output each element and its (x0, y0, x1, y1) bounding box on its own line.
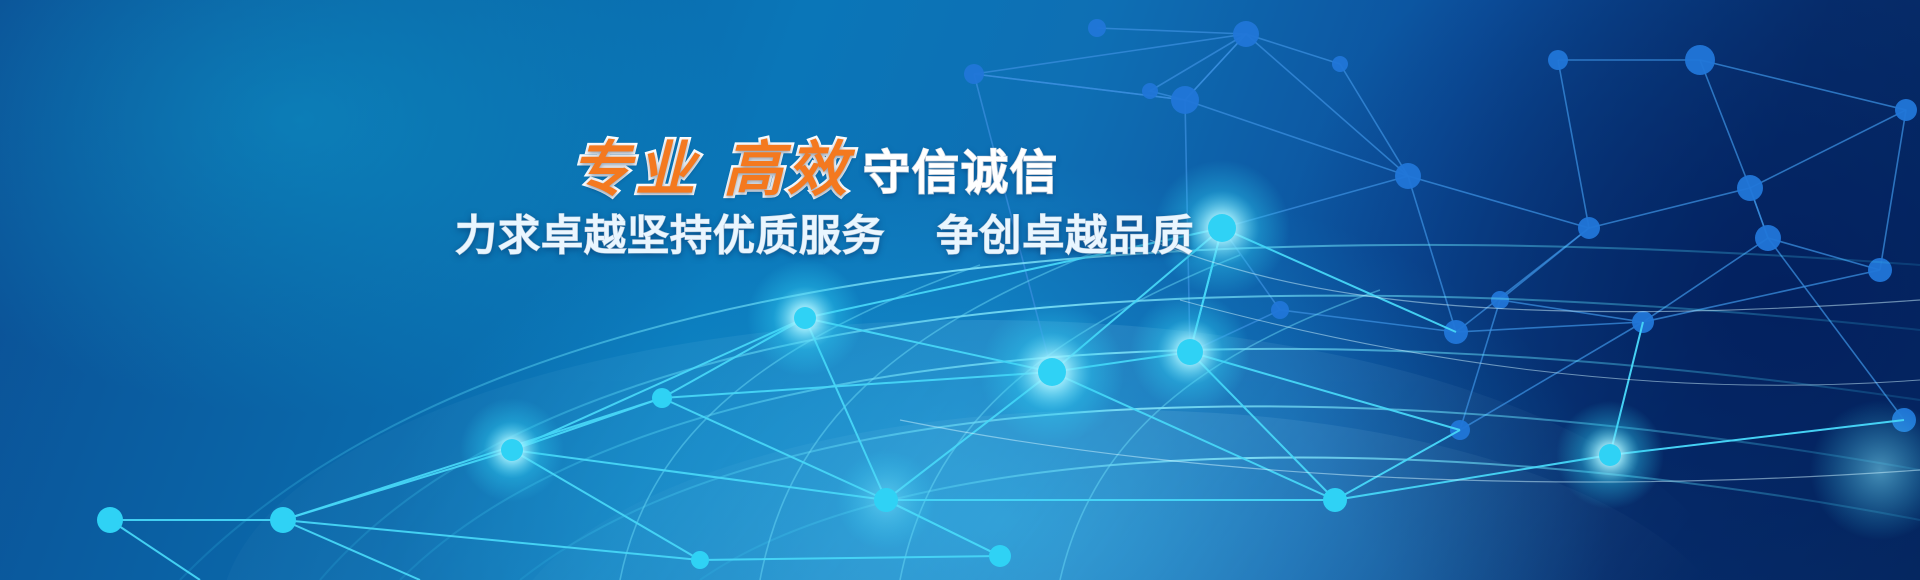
hero-banner: 专业 高效 守信诚信 力求卓越坚持优质服务 争创卓越品质 (0, 0, 1920, 580)
globe-body (220, 320, 1740, 580)
network-graphic-layer (0, 0, 1920, 580)
